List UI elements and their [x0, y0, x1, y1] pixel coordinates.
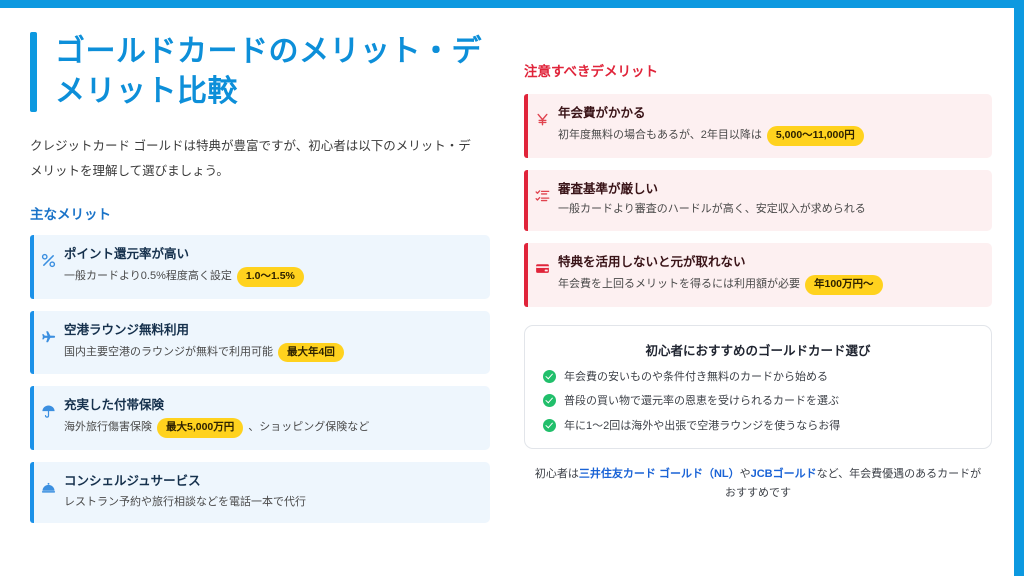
demerit-card-desc: 一般カードより審査のハードルが高く、安定収入が求められる: [558, 201, 978, 219]
list-item: 普段の買い物で還元率の恩恵を受けられるカードを選ぶ: [543, 393, 973, 410]
demerit-card[interactable]: 年会費がかかる 初年度無料の場合もあるが、2年目以降は 5,000〜11,000…: [524, 94, 992, 158]
merit-badge: 1.0〜1.5%: [237, 267, 304, 287]
merit-card-desc: レストラン予約や旅行相談などを電話一本で代行: [64, 494, 476, 512]
merit-card[interactable]: 空港ラウンジ無料利用 国内主要空港のラウンジが無料で利用可能 最大年4回: [30, 311, 490, 375]
recommendation-item-text: 普段の買い物で還元率の恩恵を受けられるカードを選ぶ: [564, 393, 839, 410]
demerit-card[interactable]: 審査基準が厳しい 一般カードより審査のハードルが高く、安定収入が求められる: [524, 170, 992, 231]
footnote-prefix: 初心者は: [535, 468, 579, 480]
demerit-desc-before: 初年度無料の場合もあるが、2年目以降は: [558, 127, 762, 145]
merit-desc-before: 国内主要空港のラウンジが無料で利用可能: [64, 344, 273, 362]
list-item: 年会費の安いものや条件付き無料のカードから始める: [543, 369, 973, 386]
demerits-column: 注意すべきデメリット 年会費がかかる 初年度無料の場合もあるが、2年目以降は 5…: [512, 8, 1014, 576]
demerit-badge: 年100万円〜: [805, 275, 883, 295]
credit-card-icon: [535, 261, 550, 276]
merit-card-desc: 海外旅行傷害保険 最大5,000万円 、ショッピング保険など: [64, 418, 476, 438]
merit-card-title: ポイント還元率が高い: [64, 246, 476, 263]
demerit-desc-before: 年会費を上回るメリットを得るには利用額が必要: [558, 276, 800, 294]
demerits-section-heading: 注意すべきデメリット: [524, 60, 992, 80]
check-circle-icon: [543, 419, 556, 432]
check-circle-icon: [543, 394, 556, 407]
footnote: 初心者は三井住友カード ゴールド（NL）やJCBゴールドなど、年会費優遇のあるカ…: [524, 465, 992, 504]
top-accent-bar: [0, 0, 1024, 8]
right-accent-bar: [1014, 0, 1024, 576]
checklist-icon: [535, 188, 550, 203]
concierge-bell-icon: [41, 480, 56, 495]
title-accent-bar: [30, 32, 37, 112]
airplane-icon: [41, 329, 56, 344]
recommendation-item-text: 年に1〜2回は海外や出張で空港ラウンジを使うならお得: [564, 418, 840, 435]
demerit-desc-before: 一般カードより審査のハードルが高く、安定収入が求められる: [558, 201, 866, 219]
demerit-card[interactable]: 特典を活用しないと元が取れない 年会費を上回るメリットを得るには利用額が必要 年…: [524, 243, 992, 307]
page-title-text: ゴールドカードのメリット・デメリット比較: [55, 32, 490, 112]
footnote-middle: や: [740, 468, 751, 480]
demerit-card-desc: 初年度無料の場合もあるが、2年目以降は 5,000〜11,000円: [558, 126, 978, 146]
merit-desc-before: 海外旅行傷害保険: [64, 419, 152, 437]
recommendation-item-text: 年会費の安いものや条件付き無料のカードから始める: [564, 369, 828, 386]
recommendation-box: 初心者におすすめのゴールドカード選び 年会費の安いものや条件付き無料のカードから…: [524, 325, 992, 450]
merit-card[interactable]: ポイント還元率が高い 一般カードより0.5%程度高く設定 1.0〜1.5%: [30, 235, 490, 299]
card-link-jcb[interactable]: JCBゴールド: [751, 468, 817, 480]
merit-card-desc: 一般カードより0.5%程度高く設定 1.0〜1.5%: [64, 267, 476, 287]
merit-card[interactable]: 充実した付帯保険 海外旅行傷害保険 最大5,000万円 、ショッピング保険など: [30, 386, 490, 450]
merit-card-title: コンシェルジュサービス: [64, 473, 476, 490]
merits-column: ゴールドカードのメリット・デメリット比較 クレジットカード ゴールドは特典が豊富…: [0, 8, 512, 576]
slide-content: ゴールドカードのメリット・デメリット比較 クレジットカード ゴールドは特典が豊富…: [0, 8, 1014, 576]
merit-badge: 最大年4回: [278, 343, 344, 363]
umbrella-icon: [41, 404, 56, 419]
merit-card[interactable]: コンシェルジュサービス レストラン予約や旅行相談などを電話一本で代行: [30, 462, 490, 523]
merit-desc-before: レストラン予約や旅行相談などを電話一本で代行: [64, 494, 306, 512]
demerit-card-desc: 年会費を上回るメリットを得るには利用額が必要 年100万円〜: [558, 275, 978, 295]
demerit-card-title: 年会費がかかる: [558, 105, 978, 122]
percent-icon: [41, 253, 56, 268]
list-item: 年に1〜2回は海外や出張で空港ラウンジを使うならお得: [543, 418, 973, 435]
merit-badge: 最大5,000万円: [157, 418, 243, 438]
lead-paragraph: クレジットカード ゴールドは特典が豊富ですが、初心者は以下のメリット・デメリット…: [30, 134, 482, 183]
merit-desc-after: 、ショッピング保険など: [248, 419, 369, 437]
card-link-smbc[interactable]: 三井住友カード ゴールド（NL）: [579, 468, 740, 480]
demerit-card-title: 審査基準が厳しい: [558, 181, 978, 198]
merit-desc-before: 一般カードより0.5%程度高く設定: [64, 268, 232, 286]
recommendation-title: 初心者におすすめのゴールドカード選び: [543, 340, 973, 359]
demerit-card-title: 特典を活用しないと元が取れない: [558, 254, 978, 271]
merits-section-heading: 主なメリット: [30, 203, 490, 223]
demerit-badge: 5,000〜11,000円: [767, 126, 864, 146]
merit-card-desc: 国内主要空港のラウンジが無料で利用可能 最大年4回: [64, 343, 476, 363]
check-circle-icon: [543, 370, 556, 383]
yen-icon: [535, 112, 550, 127]
page-title: ゴールドカードのメリット・デメリット比較: [30, 32, 490, 112]
merit-card-title: 空港ラウンジ無料利用: [64, 322, 476, 339]
merit-card-title: 充実した付帯保険: [64, 397, 476, 414]
